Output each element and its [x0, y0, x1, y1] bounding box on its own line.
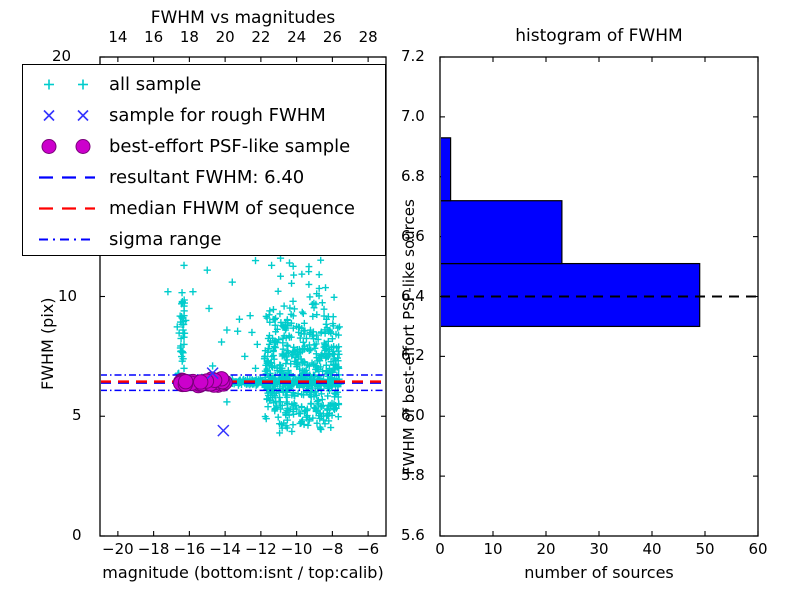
right-xlabel: number of sources: [440, 563, 758, 582]
legend-label-2: best-effort PSF-like sample: [109, 138, 350, 156]
left-top-tick-26: 26: [312, 28, 352, 46]
left-panel-title: FWHM vs magnitudes: [100, 8, 386, 28]
left-top-tick-24: 24: [277, 28, 317, 46]
right-panel-title: histogram of FWHM: [440, 26, 758, 46]
legend-label-4: median FHWM of sequence: [109, 200, 355, 218]
legend-marker-dashed-line-icon: [31, 193, 109, 224]
legend-label-0: all sample: [109, 76, 201, 94]
right-x-tick-10: 10: [473, 540, 513, 558]
right-ylabel: FWHM of best-effort PSF-like sources: [400, 199, 418, 475]
right-x-tick-20: 20: [526, 540, 566, 558]
legend-item-2[interactable]: best-effort PSF-like sample: [31, 131, 385, 162]
right-x-tick-60: 60: [738, 540, 778, 558]
legend-marker-dashed-line-icon: [31, 162, 109, 193]
left-ylabel: FWHM (pix): [38, 298, 57, 391]
legend-label-1: sample for rough FWHM: [109, 107, 326, 125]
left-bottom-tick--6: −6: [346, 540, 390, 558]
right-y-tick-6.8: 6.8: [401, 167, 425, 185]
legend-label-3: resultant FWHM: 6.40: [109, 169, 304, 187]
legend-label-5: sigma range: [109, 231, 221, 249]
legend-item-3[interactable]: resultant FWHM: 6.40: [31, 162, 385, 193]
right-x-tick-50: 50: [685, 540, 725, 558]
left-y-tick-0: 0: [72, 526, 82, 544]
left-top-tick-28: 28: [348, 28, 388, 46]
left-top-tick-20: 20: [205, 28, 245, 46]
right-y-tick-7.0: 7.0: [401, 107, 425, 125]
left-xlabel: magnitude (bottom:isnt / top:calib): [80, 563, 406, 582]
right-x-tick-0: 0: [420, 540, 460, 558]
left-y-tick-5: 5: [72, 406, 82, 424]
legend-item-1[interactable]: sample for rough FWHM: [31, 100, 385, 131]
legend-item-4[interactable]: median FHWM of sequence: [31, 193, 385, 224]
legend-marker-circle-icon: [31, 131, 109, 162]
legend: all samplesample for rough FWHMbest-effo…: [22, 64, 386, 256]
left-top-tick-16: 16: [134, 28, 174, 46]
right-y-tick-7.2: 7.2: [401, 47, 425, 65]
right-x-tick-40: 40: [632, 540, 672, 558]
legend-marker-plus-icon: [31, 69, 109, 100]
left-top-tick-14: 14: [98, 28, 138, 46]
legend-marker-cross-icon: [31, 100, 109, 131]
left-top-tick-18: 18: [169, 28, 209, 46]
right-x-tick-30: 30: [579, 540, 619, 558]
left-y-tick-10: 10: [58, 287, 77, 305]
left-top-tick-22: 22: [241, 28, 281, 46]
figure-canvas: FWHM vs magnitudes 1416182022242628 0510…: [0, 0, 800, 600]
legend-item-0[interactable]: all sample: [31, 69, 385, 100]
legend-item-5[interactable]: sigma range: [31, 224, 385, 255]
legend-marker-dashdot-line-icon: [31, 224, 109, 255]
left-y-tick-20: 20: [52, 47, 71, 65]
